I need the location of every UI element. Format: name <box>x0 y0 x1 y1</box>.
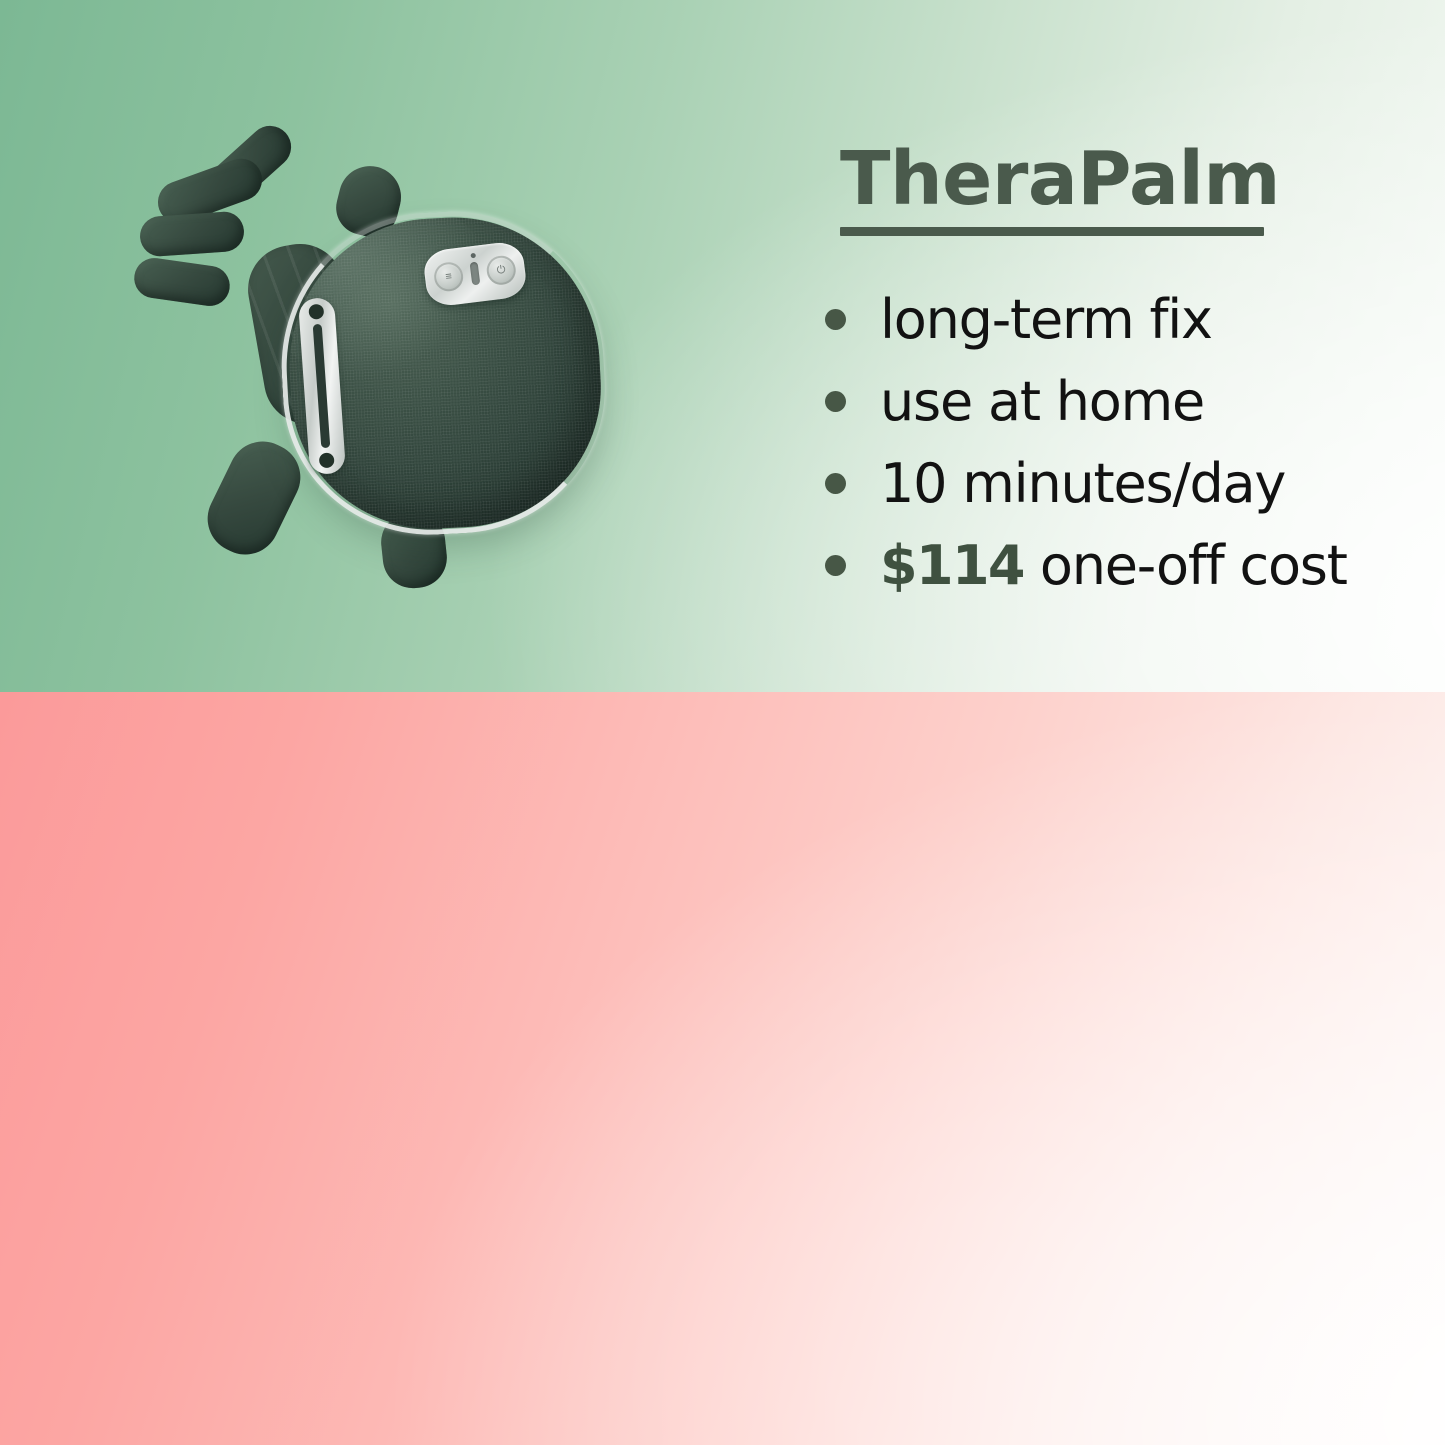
therapalm-text-column: TheraPalm long-term fix use at home 10 m… <box>840 142 1347 606</box>
bullet-label: 10 minutes/day <box>880 452 1285 515</box>
list-item-price: $114 one-off cost <box>825 524 1347 606</box>
rail-hole-top <box>308 304 324 320</box>
rail-slot <box>313 324 331 448</box>
comparison-poster: ≡ ⏻ TheraPalm long-term fix use at home <box>0 0 1445 1445</box>
control-divider <box>470 262 481 286</box>
bullet-dot-icon <box>825 473 846 494</box>
bullet-dot-icon <box>825 391 846 412</box>
mode-button[interactable]: ≡ <box>432 261 464 293</box>
power-button[interactable]: ⏻ <box>485 254 517 286</box>
bullet-label: use at home <box>880 370 1204 433</box>
bullet-dot-icon <box>825 555 846 576</box>
therapalm-bullet-list: long-term fix use at home 10 minutes/day… <box>825 278 1347 606</box>
mode-icon: ≡ <box>445 271 453 283</box>
prong-icon <box>132 256 233 309</box>
therapalm-heading-underline <box>840 227 1264 236</box>
list-item: long-term fix <box>825 278 1347 360</box>
price-value: $114 <box>880 534 1024 597</box>
product-image-therapalm: ≡ ⏻ <box>110 140 670 600</box>
price-suffix: one-off cost <box>1024 534 1347 597</box>
power-icon: ⏻ <box>496 264 506 276</box>
list-item: use at home <box>825 360 1347 442</box>
therapalm-heading: TheraPalm <box>840 142 1347 216</box>
masseurs-panel: masseurs temporary fix appointments a fe… <box>0 692 1445 1445</box>
rail-hole-bottom <box>319 452 335 468</box>
indicator-led <box>470 253 476 259</box>
bullet-label-price: $114 one-off cost <box>880 534 1347 597</box>
list-item: 10 minutes/day <box>825 442 1347 524</box>
bullet-label: long-term fix <box>880 288 1212 351</box>
prong-icon <box>139 210 246 257</box>
bullet-dot-icon <box>825 309 846 330</box>
therapalm-panel: ≡ ⏻ TheraPalm long-term fix use at home <box>0 0 1445 692</box>
